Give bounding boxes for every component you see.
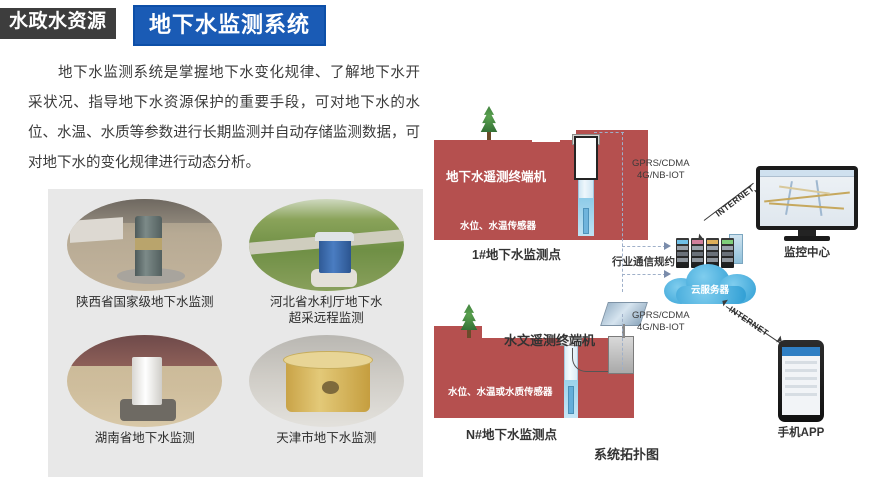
category-badge: 水政水资源	[0, 8, 116, 39]
monitor-screen-map	[760, 170, 854, 226]
link-trunk-station2	[622, 314, 623, 370]
station1-link-label-line1: GPRS/CDMA	[632, 158, 690, 170]
photo-image-shaanxi	[67, 199, 222, 291]
photo-image-hebei	[249, 199, 404, 291]
terminal-enclosure-station1	[574, 136, 598, 180]
sensor-probe-station1	[583, 208, 589, 234]
cloud-server-icon: 云服务器	[664, 260, 756, 304]
photo-gallery-panel: 陕西省国家级地下水监测 河北省水利厅地下水 超采远程监测 湖南省地下水监测	[48, 189, 423, 477]
photo-grid: 陕西省国家级地下水监测 河北省水利厅地下水 超采远程监测 湖南省地下水监测	[48, 189, 423, 477]
intro-paragraph: 地下水监测系统是掌握地下水变化规律、了解地下水开采状况、指导地下水资源保护的重要…	[28, 58, 420, 178]
link-line-station1-top	[594, 132, 624, 133]
station1-terminal-label: 地下水遥测终端机	[446, 166, 546, 185]
photo-caption-shaanxi: 陕西省国家级地下水监测	[76, 294, 214, 310]
rtu-cabinet-station2	[608, 336, 634, 374]
tree-icon-station1	[478, 106, 500, 140]
sensor-probe-station2	[568, 386, 574, 414]
arrow-icon-to-cloud-1	[664, 242, 671, 250]
station2-point-label: N#地下水监测点	[466, 424, 557, 443]
station2-terminal-label: 水文遥测终端机	[504, 330, 595, 349]
system-topology-diagram: 地下水遥测终端机 水位、水温传感器 1#地下水监测点 水文遥测终端机 水位、水温…	[426, 48, 872, 486]
ground-notch-station1	[532, 130, 560, 142]
station1-point-label: 1#地下水监测点	[472, 244, 561, 263]
station1-link-label-line2: 4G/NB-IOT	[632, 170, 690, 182]
photo-image-hunan	[67, 335, 222, 427]
station2-sensor-label: 水位、水温或水质传感器	[448, 384, 553, 398]
photo-item-hebei[interactable]: 河北省水利厅地下水 超采远程监测	[238, 199, 416, 335]
photo-item-shaanxi[interactable]: 陕西省国家级地下水监测	[56, 199, 234, 335]
internet-label-monitor: INTERNET	[714, 183, 757, 218]
tree-icon-station2	[458, 304, 480, 338]
diagram-caption: 系统拓扑图	[594, 444, 659, 463]
phone-body	[778, 340, 824, 422]
monitor-bezel	[756, 166, 858, 230]
monitoring-center-label: 监控中心	[756, 244, 858, 260]
station2-link-label: GPRS/CDMA 4G/NB-IOT	[632, 310, 690, 334]
station1-sensor-label: 水位、水温传感器	[460, 218, 536, 232]
station1-link-label: GPRS/CDMA 4G/NB-IOT	[632, 158, 690, 182]
page-root: 水政水资源 地下水监测系统 地下水监测系统是掌握地下水变化规律、了解地下水开采状…	[0, 0, 872, 486]
cloud-server-label: 云服务器	[664, 282, 756, 296]
photo-item-tianjin[interactable]: 天津市地下水监测	[238, 335, 416, 471]
monitor-base	[784, 236, 830, 241]
photo-caption-hebei: 河北省水利厅地下水 超采远程监测	[270, 294, 383, 326]
station2-link-label-line1: GPRS/CDMA	[632, 310, 690, 322]
link-line-to-cloud-1	[622, 246, 666, 247]
station2-link-label-line2: 4G/NB-IOT	[632, 322, 690, 334]
page-title-badge: 地下水监测系统	[133, 5, 326, 46]
internet-label-phone: INTERNET	[727, 304, 770, 338]
photo-caption-hebei-line2: 超采远程监测	[270, 310, 383, 326]
photo-image-tianjin	[249, 335, 404, 427]
photo-caption-tianjin: 天津市地下水监测	[276, 430, 376, 446]
link-line-to-cloud-2	[622, 274, 666, 275]
mobile-app-phone: 手机APP	[778, 340, 824, 438]
phone-screen	[782, 347, 820, 415]
photo-item-hunan[interactable]: 湖南省地下水监测	[56, 335, 234, 471]
photo-caption-hebei-line1: 河北省水利厅地下水	[270, 294, 383, 310]
monitoring-center-monitor: 监控中心	[756, 166, 858, 244]
photo-caption-hunan: 湖南省地下水监测	[95, 430, 195, 446]
mobile-app-label: 手机APP	[758, 424, 844, 440]
